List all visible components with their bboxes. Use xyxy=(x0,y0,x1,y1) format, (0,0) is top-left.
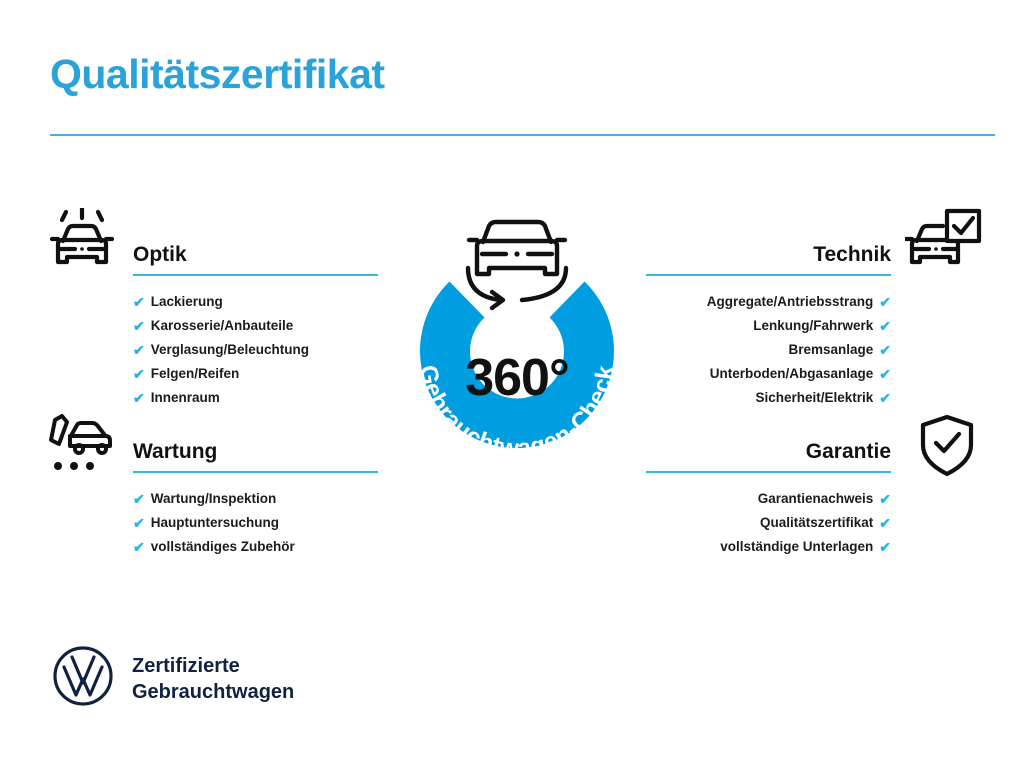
check-icon: ✔ xyxy=(133,343,145,357)
section-underline xyxy=(133,471,378,473)
check-icon: ✔ xyxy=(879,516,891,530)
check-icon: ✔ xyxy=(133,516,145,530)
list-item-label: Garantienachweis xyxy=(758,487,874,511)
list-item-label: Verglasung/Beleuchtung xyxy=(151,338,309,362)
check-icon: ✔ xyxy=(879,391,891,405)
checklist: ✔Lackierung ✔Karosserie/Anbauteile ✔Verg… xyxy=(133,290,378,410)
brand-lockup: Zertifizierte Gebrauchtwagen xyxy=(52,645,294,712)
brand-line-2: Gebrauchtwagen xyxy=(132,679,294,705)
section-optik: Optik ✔Lackierung ✔Karosserie/Anbauteile… xyxy=(133,240,378,410)
car-rotate-360-icon xyxy=(468,222,566,308)
checklist: ✔Wartung/Inspektion ✔Hauptuntersuchung ✔… xyxy=(133,487,378,559)
shield-check-icon xyxy=(918,414,976,483)
list-item-label: Innenraum xyxy=(151,386,220,410)
check-icon: ✔ xyxy=(879,492,891,506)
check-icon: ✔ xyxy=(879,540,891,554)
brand-text: Zertifizierte Gebrauchtwagen xyxy=(132,653,294,705)
certificate-page: Qualitätszertifikat xyxy=(0,0,1024,768)
list-item: Bremsanlage✔ xyxy=(646,338,891,362)
list-item: ✔Wartung/Inspektion xyxy=(133,487,378,511)
list-item: Aggregate/Antriebsstrang✔ xyxy=(646,290,891,314)
check-icon: ✔ xyxy=(133,295,145,309)
badge-360-gebrauchtwagen-check: Gebrauchtwagen-Check 360° xyxy=(372,196,662,506)
checklist: Aggregate/Antriebsstrang✔ Lenkung/Fahrwe… xyxy=(646,290,891,410)
section-header: Optik xyxy=(133,240,378,278)
list-item: ✔Verglasung/Beleuchtung xyxy=(133,338,378,362)
section-title: Wartung xyxy=(133,437,378,467)
car-front-shine-icon xyxy=(46,208,118,279)
section-underline xyxy=(646,471,891,473)
list-item-label: Lenkung/Fahrwerk xyxy=(753,314,873,338)
list-item-label: vollständige Unterlagen xyxy=(720,535,873,559)
list-item: Garantienachweis✔ xyxy=(646,487,891,511)
badge-degrees-label: 360° xyxy=(372,348,662,408)
list-item-label: Hauptuntersuchung xyxy=(151,511,279,535)
list-item-label: Wartung/Inspektion xyxy=(151,487,277,511)
section-header: Technik xyxy=(646,240,891,278)
check-icon: ✔ xyxy=(879,319,891,333)
check-icon: ✔ xyxy=(879,295,891,309)
list-item-label: Karosserie/Anbauteile xyxy=(151,314,294,338)
list-item: Unterboden/Abgasanlage✔ xyxy=(646,362,891,386)
list-item-label: Lackierung xyxy=(151,290,223,314)
list-item: ✔vollständiges Zubehör xyxy=(133,535,378,559)
section-header: Wartung xyxy=(133,437,378,475)
list-item: Lenkung/Fahrwerk✔ xyxy=(646,314,891,338)
list-item: ✔Lackierung xyxy=(133,290,378,314)
section-header: Garantie xyxy=(646,437,891,475)
list-item-label: Bremsanlage xyxy=(788,338,873,362)
section-underline xyxy=(133,274,378,276)
section-technik: Technik Aggregate/Antriebsstrang✔ Lenkun… xyxy=(646,240,891,410)
list-item-label: Sicherheit/Elektrik xyxy=(755,386,873,410)
section-wartung: Wartung ✔Wartung/Inspektion ✔Hauptunters… xyxy=(133,437,378,559)
header-divider xyxy=(50,134,995,136)
list-item-label: Aggregate/Antriebsstrang xyxy=(707,290,874,314)
brand-line-1: Zertifizierte xyxy=(132,653,294,679)
list-item: ✔Felgen/Reifen xyxy=(133,362,378,386)
list-item-label: Qualitätszertifikat xyxy=(760,511,873,535)
list-item: ✔Innenraum xyxy=(133,386,378,410)
check-icon: ✔ xyxy=(879,367,891,381)
checklist: Garantienachweis✔ Qualitätszertifikat✔ v… xyxy=(646,487,891,559)
list-item-label: vollständiges Zubehör xyxy=(151,535,295,559)
section-underline xyxy=(646,274,891,276)
car-front-checkbox-icon xyxy=(905,208,983,279)
list-item: Qualitätszertifikat✔ xyxy=(646,511,891,535)
check-icon: ✔ xyxy=(133,540,145,554)
check-icon: ✔ xyxy=(133,367,145,381)
section-garantie: Garantie Garantienachweis✔ Qualitätszert… xyxy=(646,437,891,559)
list-item: ✔Karosserie/Anbauteile xyxy=(133,314,378,338)
list-item: vollständige Unterlagen✔ xyxy=(646,535,891,559)
car-service-tool-icon xyxy=(46,414,118,481)
section-title: Garantie xyxy=(646,437,891,467)
list-item: Sicherheit/Elektrik✔ xyxy=(646,386,891,410)
page-title: Qualitätszertifikat xyxy=(50,52,385,97)
check-icon: ✔ xyxy=(133,391,145,405)
vw-logo-icon xyxy=(52,645,114,712)
section-title: Optik xyxy=(133,240,378,270)
section-title: Technik xyxy=(646,240,891,270)
list-item-label: Unterboden/Abgasanlage xyxy=(710,362,874,386)
check-icon: ✔ xyxy=(133,492,145,506)
check-icon: ✔ xyxy=(879,343,891,357)
list-item: ✔Hauptuntersuchung xyxy=(133,511,378,535)
list-item-label: Felgen/Reifen xyxy=(151,362,240,386)
check-icon: ✔ xyxy=(133,319,145,333)
